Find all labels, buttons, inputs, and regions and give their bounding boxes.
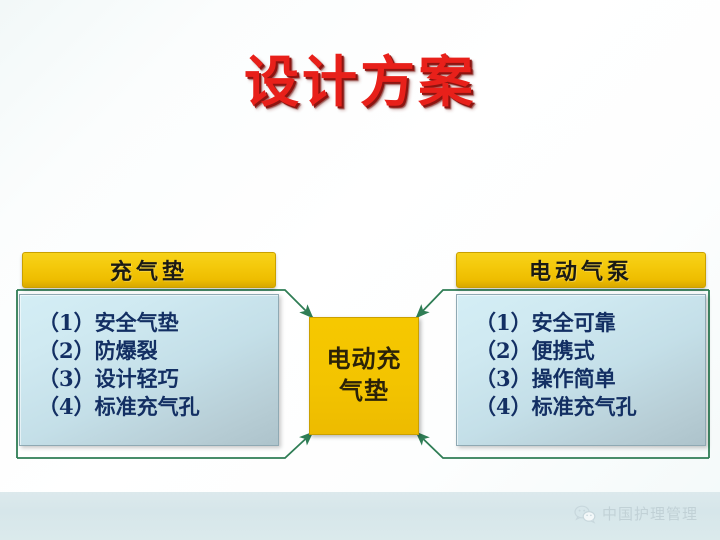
list-item: （3）操作简单	[475, 365, 705, 393]
center-node-line2: 气垫	[339, 376, 389, 408]
list-item: （4）标准充气孔	[38, 393, 278, 421]
watermark: 中国护理管理	[574, 503, 698, 524]
wechat-icon	[574, 504, 596, 524]
list-item: （3）设计轻巧	[38, 365, 278, 393]
left-group-header: 充气垫	[22, 252, 276, 288]
list-item: （1）安全气垫	[38, 309, 278, 337]
list-item: （4）标准充气孔	[475, 393, 705, 421]
list-item: （1）安全可靠	[475, 309, 705, 337]
right-group-header: 电动气泵	[456, 252, 706, 288]
center-node-line1: 电动充	[327, 344, 402, 376]
right-group-header-label: 电动气泵	[529, 254, 633, 286]
center-node: 电动充 气垫	[309, 317, 419, 435]
slide-canvas: 设计方案 充气垫 （1）安全气垫 （2）防爆裂 （3）设计轻巧 （4）标准充气孔…	[0, 0, 720, 540]
left-group-panel: （1）安全气垫 （2）防爆裂 （3）设计轻巧 （4）标准充气孔	[19, 294, 279, 446]
list-item: （2）防爆裂	[38, 337, 278, 365]
watermark-text: 中国护理管理	[602, 503, 698, 524]
right-group-panel: （1）安全可靠 （2）便携式 （3）操作简单 （4）标准充气孔	[456, 294, 706, 446]
left-group-header-label: 充气垫	[110, 254, 188, 286]
list-item: （2）便携式	[475, 337, 705, 365]
